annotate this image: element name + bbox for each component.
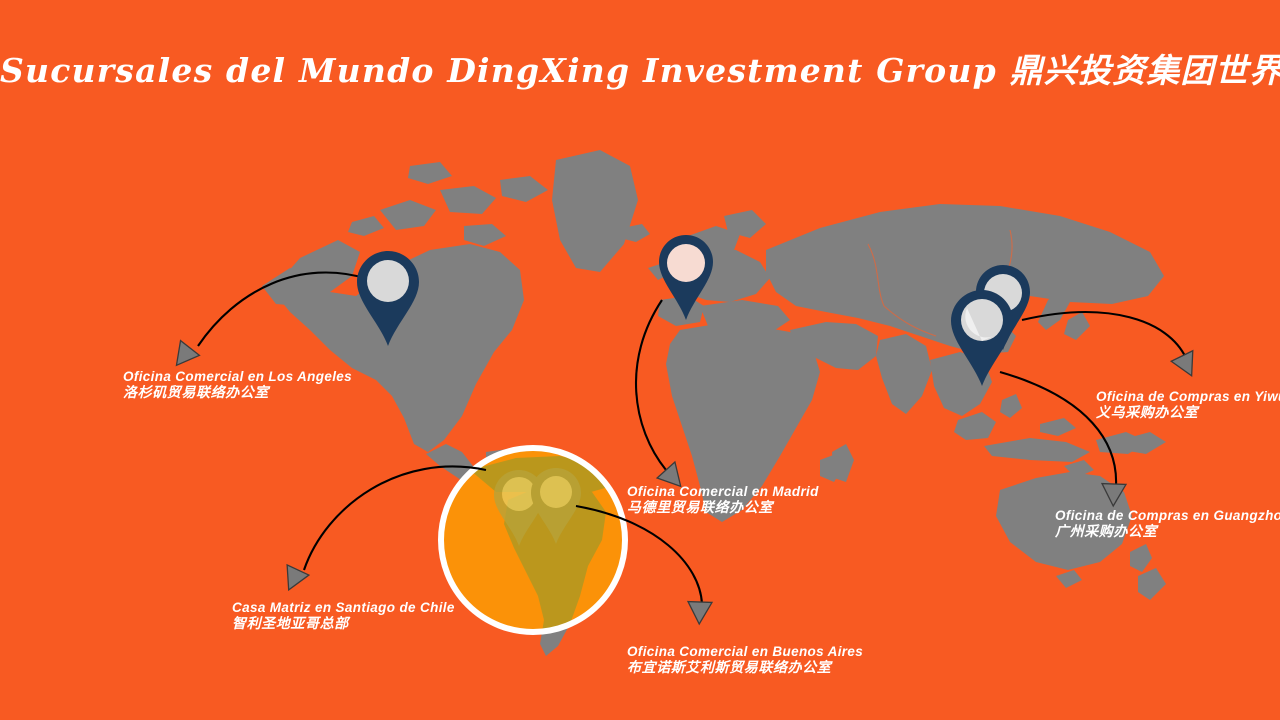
office-label-santiago: Casa Matriz en Santiago de Chile 智利圣地亚哥总…: [232, 600, 455, 633]
office-label-los-angeles: Oficina Comercial en Los Angeles 洛杉矶贸易联络…: [123, 369, 352, 402]
office-label-cjk: 马德里贸易联络办公室: [627, 501, 819, 517]
south-america-spotlight: [441, 448, 625, 656]
office-label-buenos-aires: Oficina Comercial en Buenos Aires 布宜诺斯艾利…: [627, 644, 863, 677]
office-label-madrid: Oficina Comercial en Madrid 马德里贸易联络办公室: [627, 484, 819, 517]
office-label-guangzhou: Oficina de Compras en Guangzhou 广州采购办公室: [1055, 508, 1280, 541]
office-label-cjk: 洛杉矶贸易联络办公室: [123, 386, 352, 402]
arrowhead-yiwu: [1171, 351, 1202, 381]
arrowhead-los-angeles: [167, 341, 199, 373]
office-label-cjk: 广州采购办公室: [1055, 525, 1280, 541]
landmass-layer: [262, 150, 1166, 656]
office-label-latin: Casa Matriz en Santiago de Chile: [232, 600, 455, 615]
office-label-yiwu: Oficina de Compras en Yiwu 义乌采购办公室: [1096, 389, 1280, 422]
office-label-latin: Oficina Comercial en Los Angeles: [123, 369, 352, 384]
office-label-latin: Oficina de Compras en Yiwu: [1096, 389, 1280, 404]
office-label-cjk: 义乌采购办公室: [1096, 406, 1280, 422]
office-label-latin: Oficina Comercial en Buenos Aires: [627, 644, 863, 659]
office-label-cjk: 布宜诺斯艾利斯贸易联络办公室: [627, 661, 863, 677]
arrowhead-buenos-aires: [687, 602, 712, 625]
office-label-latin: Oficina Comercial en Madrid: [627, 484, 819, 499]
office-label-cjk: 智利圣地亚哥总部: [232, 617, 455, 633]
slide-canvas: Sucursales del Mundo DingXing Investment…: [0, 0, 1280, 720]
office-label-latin: Oficina de Compras en Guangzhou: [1055, 508, 1280, 523]
page-title: Sucursales del Mundo DingXing Investment…: [0, 44, 1280, 92]
world-map: [0, 0, 1280, 720]
arrow-madrid: [636, 300, 666, 470]
